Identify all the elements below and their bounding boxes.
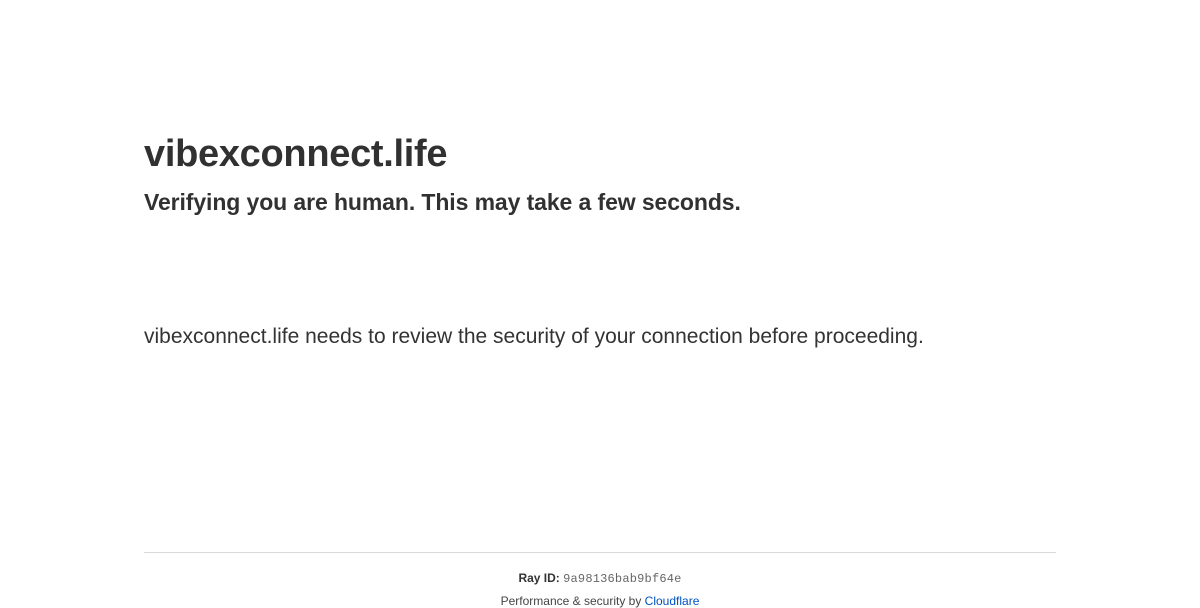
ray-id-line: Ray ID: 9a98136bab9bf64e <box>144 553 1056 586</box>
ray-id-value: 9a98136bab9bf64e <box>563 572 681 586</box>
attribution-line: Performance & security by Cloudflare <box>144 586 1056 608</box>
verification-status-text: Verifying you are human. This may take a… <box>144 177 1056 217</box>
challenge-page: vibexconnect.life Verifying you are huma… <box>0 0 1200 600</box>
security-review-description: vibexconnect.life needs to review the se… <box>144 319 944 355</box>
cloudflare-link[interactable]: Cloudflare <box>645 594 700 608</box>
page-title: vibexconnect.life <box>144 0 1056 177</box>
ray-id-label: Ray ID: <box>518 571 559 585</box>
challenge-content: vibexconnect.life Verifying you are huma… <box>144 0 1056 355</box>
attribution-prefix: Performance & security by <box>501 594 645 608</box>
challenge-widget-container[interactable] <box>144 223 474 319</box>
